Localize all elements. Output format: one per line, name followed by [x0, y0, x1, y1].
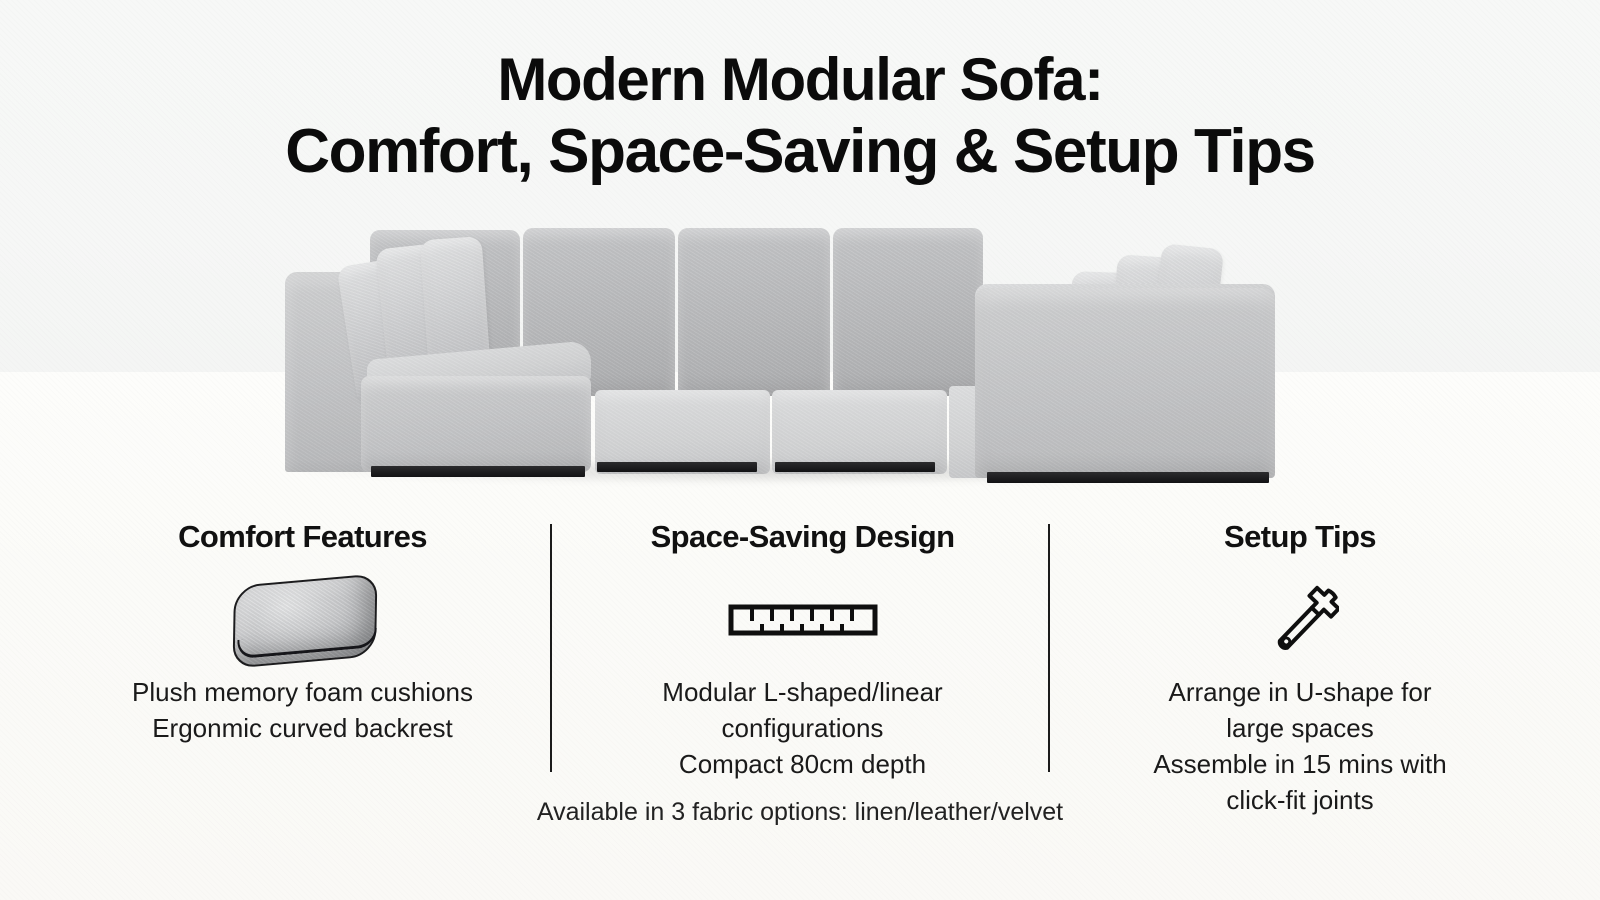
column-line: Modular L-shaped/linear: [555, 674, 1050, 710]
wrench-icon: [1261, 577, 1339, 663]
cushion-icon: [219, 574, 387, 666]
column-divider-1: [550, 524, 552, 772]
column-line: Compact 80cm depth: [555, 746, 1050, 782]
ruler-icon: [728, 602, 878, 638]
sofa-illustration: [275, 200, 1290, 490]
feature-columns: Comfort Features Plush memory foam cushi…: [0, 518, 1600, 788]
column-lines-comfort: Plush memory foam cushions Ergonmic curv…: [55, 674, 550, 746]
hero-sofa-image: [0, 200, 1600, 500]
footer-note: Available in 3 fabric options: linen/lea…: [0, 796, 1600, 828]
column-line: configurations: [555, 710, 1050, 746]
sofa-foot-3: [775, 462, 935, 472]
sofa-backrest-module-3: [678, 228, 830, 396]
feature-column-comfort: Comfort Features Plush memory foam cushi…: [55, 518, 550, 746]
column-line: Assemble in 15 mins with: [1055, 746, 1545, 782]
column-icon-comfort: [55, 572, 550, 668]
column-line: Arrange in U-shape for: [1055, 674, 1545, 710]
sofa-right-armrest: [975, 288, 1275, 478]
column-line: Plush memory foam cushions: [55, 674, 550, 710]
sofa-backrest-module-4: [833, 228, 983, 396]
feature-column-space-saving: Space-Saving Design M: [555, 518, 1050, 782]
page-title: Modern Modular Sofa: Comfort, Space-Savi…: [0, 44, 1600, 188]
column-lines-space-saving: Modular L-shaped/linear configurations C…: [555, 674, 1050, 782]
sofa-left-chaise-base: [361, 376, 591, 472]
sofa-foot-2: [597, 462, 757, 472]
column-line: large spaces: [1055, 710, 1545, 746]
column-heading-comfort: Comfort Features: [55, 518, 550, 556]
title-line-2: Comfort, Space-Saving & Setup Tips: [0, 116, 1600, 188]
feature-column-setup-tips: Setup Tips Arrange in U-shape for large …: [1055, 518, 1545, 818]
column-icon-setup-tips: [1055, 572, 1545, 668]
sofa-foot-1: [371, 466, 585, 477]
column-heading-setup-tips: Setup Tips: [1055, 518, 1545, 556]
title-line-1: Modern Modular Sofa:: [0, 44, 1600, 116]
column-line: Ergonmic curved backrest: [55, 710, 550, 746]
sofa-foot-4: [987, 472, 1269, 483]
infographic-canvas: Modern Modular Sofa: Comfort, Space-Savi…: [0, 0, 1600, 900]
column-icon-space-saving: [555, 572, 1050, 668]
column-heading-space-saving: Space-Saving Design: [555, 518, 1050, 556]
